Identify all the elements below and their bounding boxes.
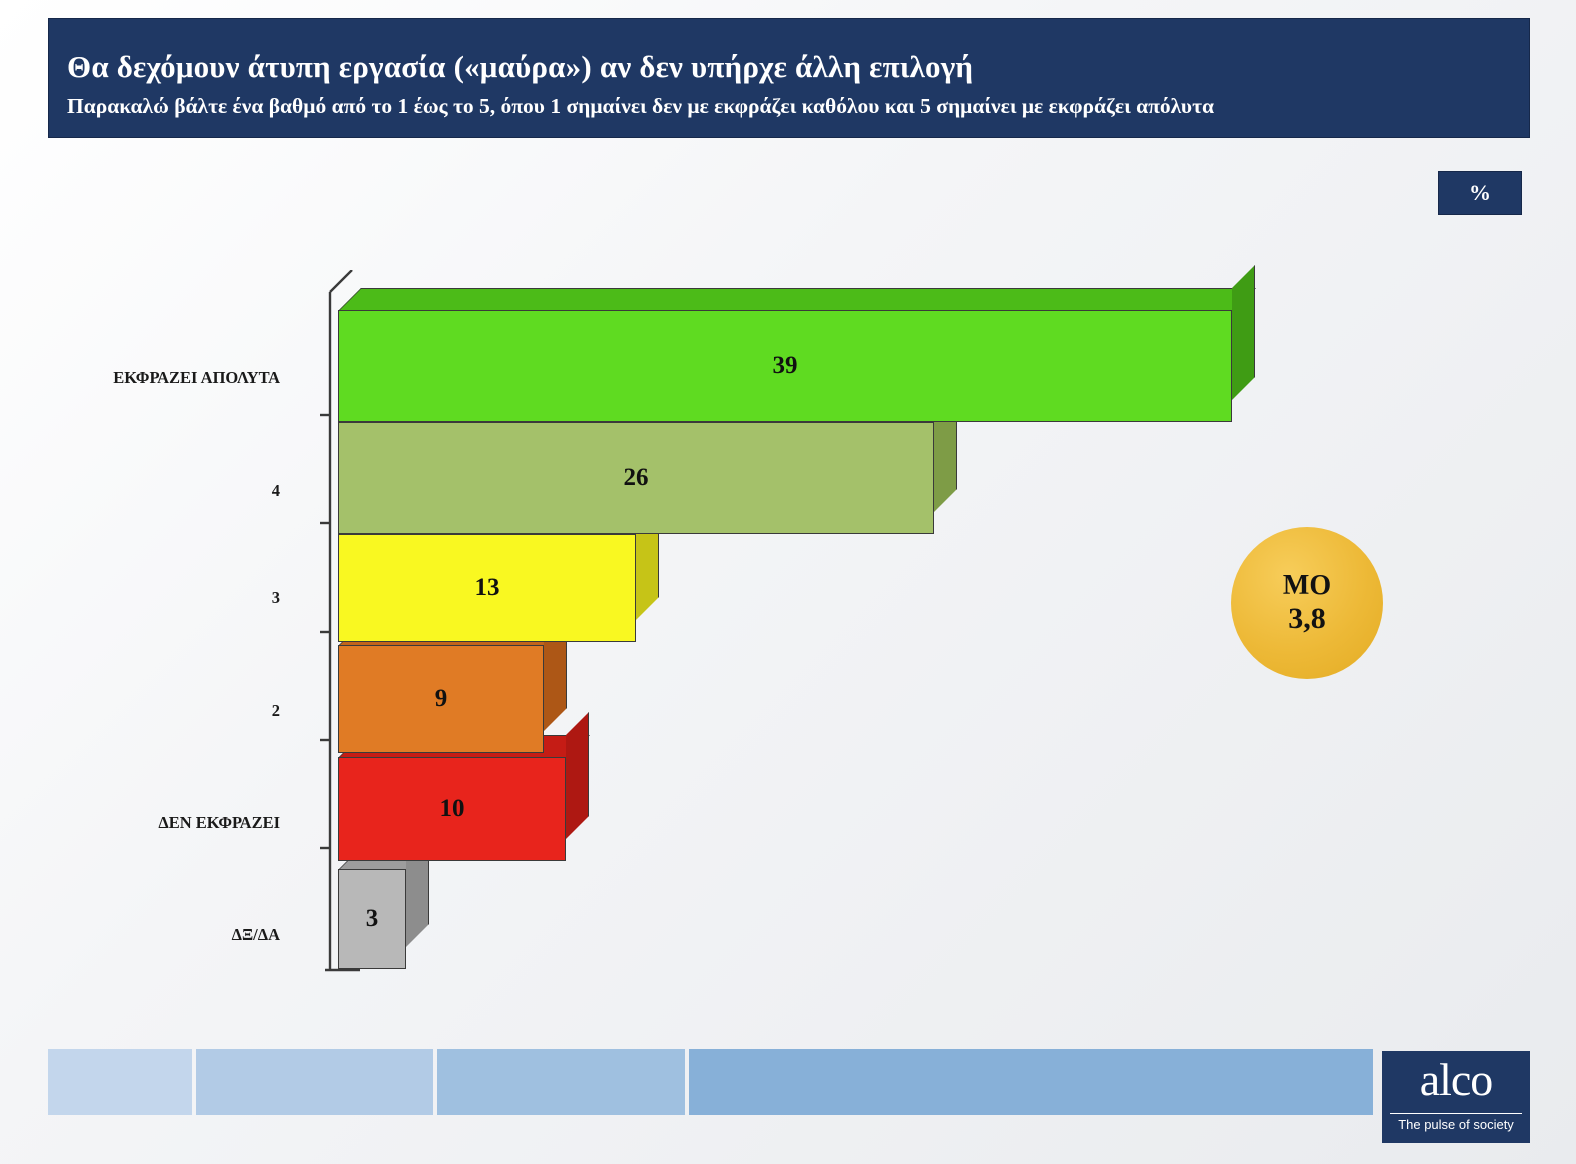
- bar-3-value: 9: [338, 685, 544, 713]
- mean-value: 3,8: [1288, 602, 1326, 635]
- bar-1: 26: [338, 422, 934, 534]
- bar-0: 39: [338, 310, 1232, 422]
- category-label-0: ΕΚΦΡΑΖΕΙ ΑΠΟΛΥΤΑ: [40, 368, 280, 388]
- bar-2-value: 13: [338, 574, 636, 602]
- alco-logo-tagline: The pulse of society: [1382, 1117, 1530, 1132]
- alco-logo: alco The pulse of society: [1382, 1051, 1530, 1143]
- bar-0-value: 39: [338, 352, 1232, 380]
- logo-divider: [1390, 1113, 1522, 1114]
- bar-chart: ΕΚΦΡΑΖΕΙ ΑΠΟΛΥΤΑ 4 3 2 ΔΕΝ ΕΚΦΡΑΖΕΙ ΔΞ/Δ…: [0, 0, 1576, 1164]
- mean-label: ΜΟ: [1283, 571, 1331, 602]
- footer-bar-3: [437, 1049, 685, 1115]
- bar-4-side-face: [566, 712, 589, 839]
- bar-3: 9: [338, 645, 544, 753]
- bar-2: 13: [338, 534, 636, 642]
- category-label-1: 4: [40, 481, 280, 501]
- alco-logo-text: alco: [1382, 1053, 1530, 1106]
- bar-0-side-face: [1232, 265, 1255, 400]
- bar-5: 3: [338, 869, 406, 969]
- footer-color-bars: [48, 1049, 1373, 1115]
- bar-1-value: 26: [338, 464, 934, 492]
- mean-score-badge: ΜΟ 3,8: [1231, 527, 1383, 679]
- category-label-5: ΔΞ/ΔΑ: [40, 925, 280, 945]
- bar-5-value: 3: [338, 905, 406, 933]
- footer-bar-2: [196, 1049, 433, 1115]
- category-label-4: ΔΕΝ ΕΚΦΡΑΖΕΙ: [40, 813, 280, 833]
- category-label-2: 3: [40, 588, 280, 608]
- bar-0-top-face: [338, 288, 1256, 311]
- category-label-3: 2: [40, 701, 280, 721]
- footer-bar-1: [48, 1049, 192, 1115]
- footer-bar-4: [689, 1049, 1373, 1115]
- bar-4-value: 10: [338, 795, 566, 823]
- bar-4: 10: [338, 757, 566, 861]
